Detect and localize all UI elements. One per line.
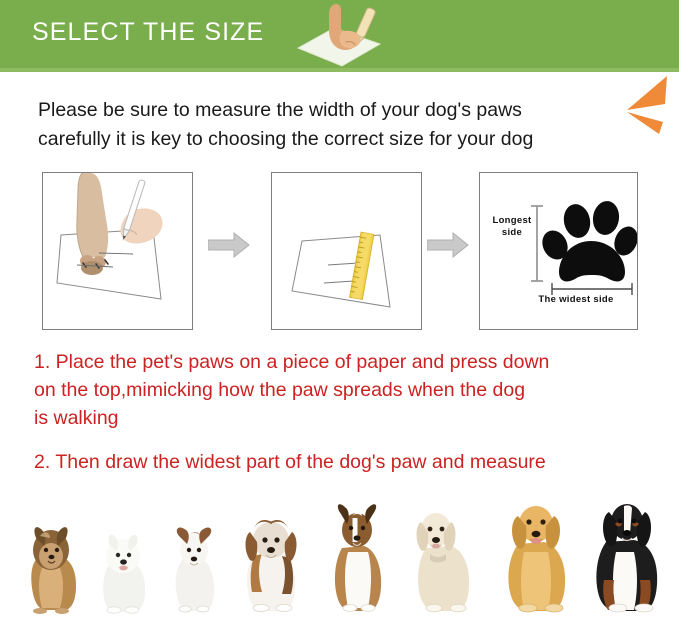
page-title: SELECT THE SIZE bbox=[32, 18, 264, 47]
paw-print-icon bbox=[480, 173, 638, 330]
longest-side-label-line1: Longest bbox=[492, 215, 531, 226]
hand-drawing-on-paper-icon bbox=[288, 4, 400, 68]
instruction-step-1: 1. Place the pet's paws on a piece of pa… bbox=[34, 348, 659, 432]
longest-side-label-line2: side bbox=[502, 227, 522, 238]
header-underline bbox=[0, 68, 679, 72]
dog-golden-retriever bbox=[492, 490, 580, 614]
intro-text: Please be sure to measure the width of y… bbox=[38, 96, 648, 154]
dog-paw-traced-on-paper-icon bbox=[43, 173, 193, 330]
step-1-line-1: 1. Place the pet's paws on a piece of pa… bbox=[34, 348, 659, 376]
arrow-right-icon-1 bbox=[208, 232, 250, 258]
panel-paw-dimensions: Longest side The widest side bbox=[479, 172, 638, 330]
widest-side-label: The widest side bbox=[516, 294, 636, 305]
step-2-line-1: 2. Then draw the widest part of the dog'… bbox=[34, 448, 659, 476]
size-guide-page: SELECT THE SIZE bbox=[0, 0, 679, 618]
intro-line-1: Please be sure to measure the width of y… bbox=[38, 96, 648, 125]
panel-trace-paw bbox=[42, 172, 193, 330]
instruction-step-2: 2. Then draw the widest part of the dog'… bbox=[34, 448, 659, 476]
intro-line-2: carefully it is key to choosing the corr… bbox=[38, 125, 648, 154]
dog-bernese-mountain-dog bbox=[582, 488, 670, 614]
dog-jack-russell-terrier bbox=[162, 518, 226, 614]
panel-measure-ruler bbox=[271, 172, 422, 330]
step-1-line-3: is walking bbox=[34, 404, 659, 432]
header-banner: SELECT THE SIZE bbox=[0, 0, 679, 68]
longest-side-label: Longest side bbox=[488, 215, 536, 239]
dog-labrador-retriever bbox=[402, 498, 482, 614]
dog-yorkshire-terrier bbox=[18, 516, 84, 614]
illustration-panels: Longest side The widest side bbox=[42, 172, 638, 332]
dog-breed-row bbox=[0, 484, 679, 618]
step-1-line-2: on the top,mimicking how the paw spreads… bbox=[34, 376, 659, 404]
dog-beagle bbox=[232, 506, 310, 614]
dog-west-highland-white-terrier bbox=[92, 524, 154, 614]
paper-with-ruler-icon bbox=[272, 173, 422, 330]
arrow-right-icon-2 bbox=[427, 232, 469, 258]
dog-border-collie bbox=[322, 496, 394, 614]
